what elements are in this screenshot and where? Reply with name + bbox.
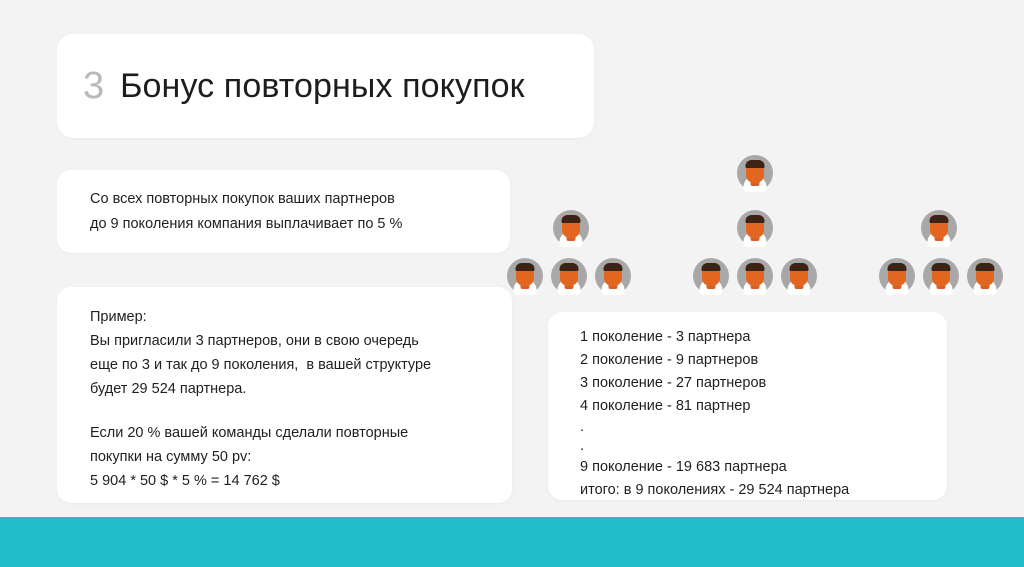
person-avatar-icon xyxy=(923,258,959,294)
slide-canvas: 3 Бонус повторных покупок Со всех повтор… xyxy=(0,0,1024,567)
person-avatar-icon xyxy=(737,155,773,191)
generation-row: 3 поколение - 27 партнеров xyxy=(580,372,947,395)
avatar-group xyxy=(507,258,1003,294)
avatar-hair xyxy=(516,263,535,271)
bottom-accent-bar xyxy=(0,517,1024,567)
avatar-hair xyxy=(562,215,581,223)
example-calculation-line: покупки на сумму 50 pv: xyxy=(90,445,512,469)
avatar-row-first-generation xyxy=(520,210,990,246)
avatar-cluster xyxy=(693,258,817,294)
person-avatar-icon xyxy=(879,258,915,294)
avatar-group xyxy=(553,210,957,246)
avatar-hair xyxy=(746,160,765,168)
avatar-cluster xyxy=(879,258,1003,294)
title-number: 3 xyxy=(83,67,104,105)
avatar-hair xyxy=(746,263,765,271)
person-avatar-icon xyxy=(507,258,543,294)
generation-row: 1 поколение - 3 партнера xyxy=(580,326,947,349)
person-avatar-icon xyxy=(737,258,773,294)
title-card: 3 Бонус повторных покупок xyxy=(57,34,594,138)
avatar-tree-diagram xyxy=(520,155,990,300)
generation-row: 4 поколение - 81 партнер xyxy=(580,395,947,418)
page-title: Бонус повторных покупок xyxy=(120,69,524,103)
generation-row: 2 поколение - 9 партнеров xyxy=(580,349,947,372)
avatar-hair xyxy=(932,263,951,271)
avatar-hair xyxy=(560,263,579,271)
person-avatar-icon xyxy=(595,258,631,294)
avatar-hair xyxy=(790,263,809,271)
example-paragraph-line: Вы пригласили 3 партнеров, они в свою оч… xyxy=(90,329,512,353)
avatar-row-root xyxy=(520,155,990,191)
intro-line: до 9 поколения компания выплачивает по 5… xyxy=(90,212,510,237)
generations-card: 1 поколение - 3 партнера 2 поколение - 9… xyxy=(548,312,947,500)
avatar-row-second-generation xyxy=(520,258,990,294)
avatar-hair xyxy=(702,263,721,271)
example-heading: Пример: xyxy=(90,305,512,329)
example-paragraph-line: будет 29 524 партнера. xyxy=(90,377,512,401)
generation-ellipsis-dot: . xyxy=(580,418,947,437)
avatar-hair xyxy=(746,215,765,223)
person-avatar-icon xyxy=(781,258,817,294)
avatar-cluster xyxy=(507,258,631,294)
person-avatar-icon xyxy=(737,210,773,246)
avatar-hair xyxy=(976,263,995,271)
generation-row: 9 поколение - 19 683 партнера xyxy=(580,456,947,479)
generation-ellipsis-dot: . xyxy=(580,437,947,456)
intro-line: Со всех повторных покупок ваших партнеро… xyxy=(90,187,510,212)
person-avatar-icon xyxy=(553,210,589,246)
avatar-hair xyxy=(888,263,907,271)
example-paragraph-line: еще по 3 и так до 9 поколения, в вашей с… xyxy=(90,353,512,377)
person-avatar-icon xyxy=(551,258,587,294)
example-calculation-line: 5 904 * 50 $ * 5 % = 14 762 $ xyxy=(90,469,512,493)
person-avatar-icon xyxy=(921,210,957,246)
person-avatar-icon xyxy=(967,258,1003,294)
person-avatar-icon xyxy=(693,258,729,294)
avatar-hair xyxy=(930,215,949,223)
example-calculation-line: Если 20 % вашей команды сделали повторны… xyxy=(90,421,512,445)
example-card: Пример: Вы пригласили 3 партнеров, они в… xyxy=(57,287,512,503)
spacer xyxy=(90,401,512,421)
avatar-hair xyxy=(604,263,623,271)
intro-card: Со всех повторных покупок ваших партнеро… xyxy=(57,170,510,253)
generation-total-row: итого: в 9 поколениях - 29 524 партнера xyxy=(580,479,947,502)
